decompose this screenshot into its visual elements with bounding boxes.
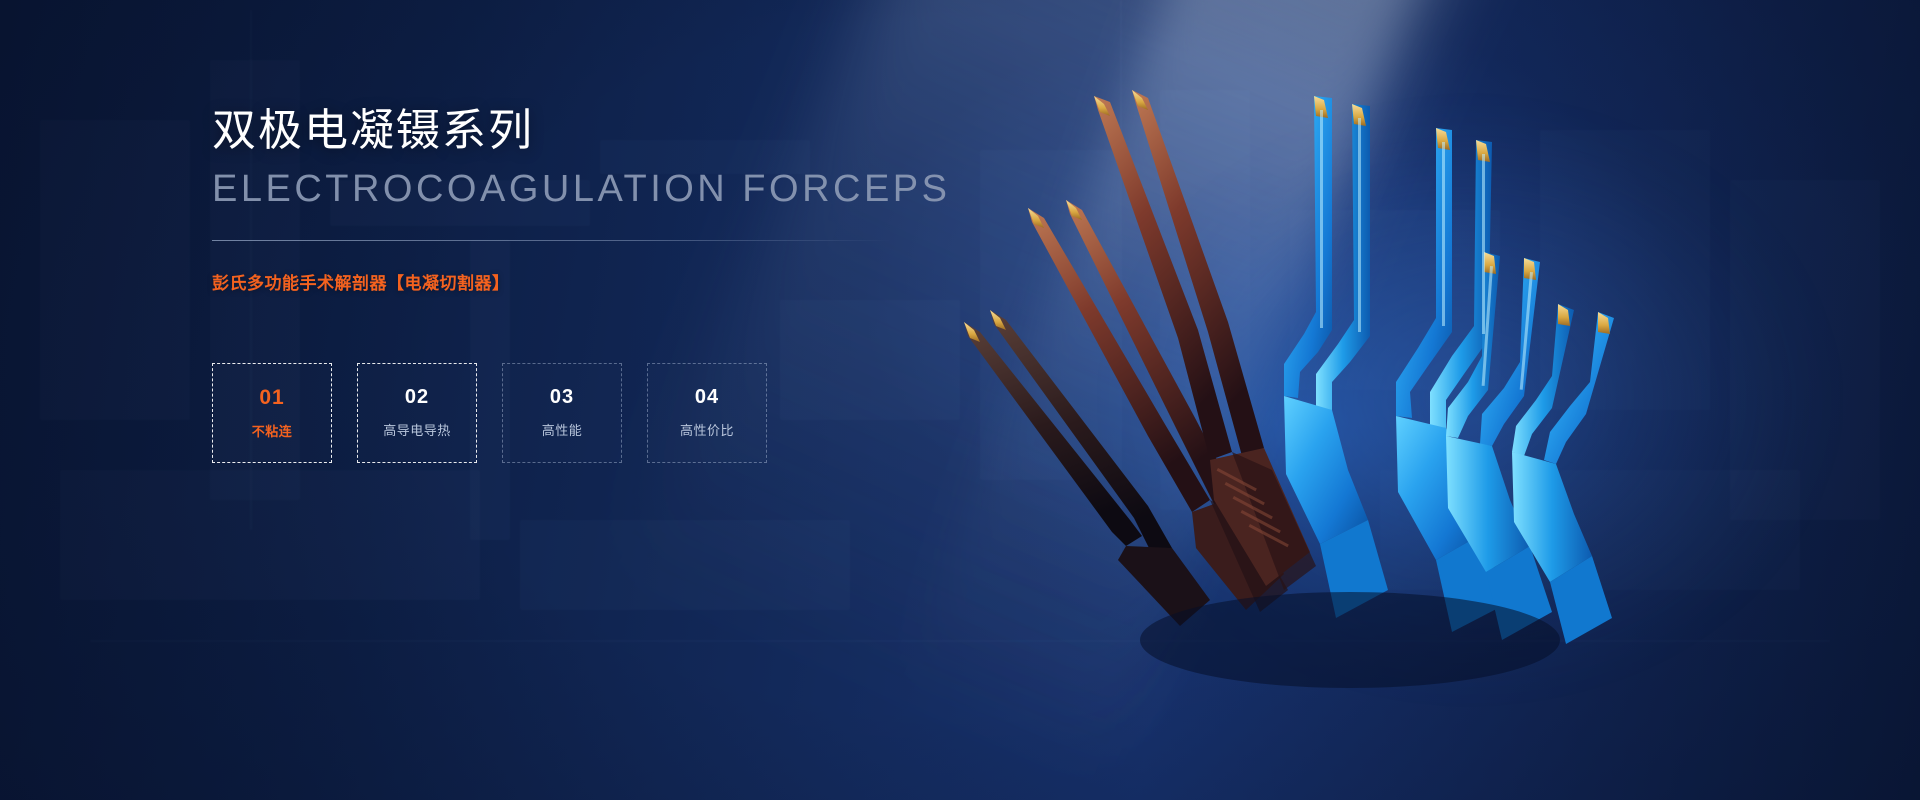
page-title: 双极电凝镊系列 (212, 104, 972, 159)
product-banner: 双极电凝镊系列 ELECTROCOAGULATION FORCEPS 彭氏多功能… (0, 0, 1920, 800)
feature-number: 01 (259, 387, 284, 408)
feature-item-02[interactable]: 02 高导电导热 (357, 363, 477, 463)
divider (212, 240, 892, 241)
feature-item-03[interactable]: 03 高性能 (502, 363, 622, 463)
feature-list: 01 不粘连 02 高导电导热 03 高性能 04 高性价比 (212, 363, 792, 463)
feature-label: 不粘连 (252, 421, 293, 440)
feature-label: 高导电导热 (383, 420, 451, 439)
feature-number: 03 (550, 387, 574, 407)
feature-label: 高性价比 (680, 420, 734, 439)
banner-content: 双极电凝镊系列 ELECTROCOAGULATION FORCEPS 彭氏多功能… (212, 104, 972, 294)
feature-number: 02 (405, 387, 429, 407)
feature-item-01[interactable]: 01 不粘连 (212, 363, 332, 463)
page-subtitle-en: ELECTROCOAGULATION FORCEPS (212, 167, 972, 213)
feature-item-04[interactable]: 04 高性价比 (647, 363, 767, 463)
feature-number: 04 (695, 387, 719, 407)
feature-label: 高性能 (542, 420, 583, 439)
product-subtitle: 彭氏多功能手术解剖器【电凝切割器】 (212, 269, 972, 294)
